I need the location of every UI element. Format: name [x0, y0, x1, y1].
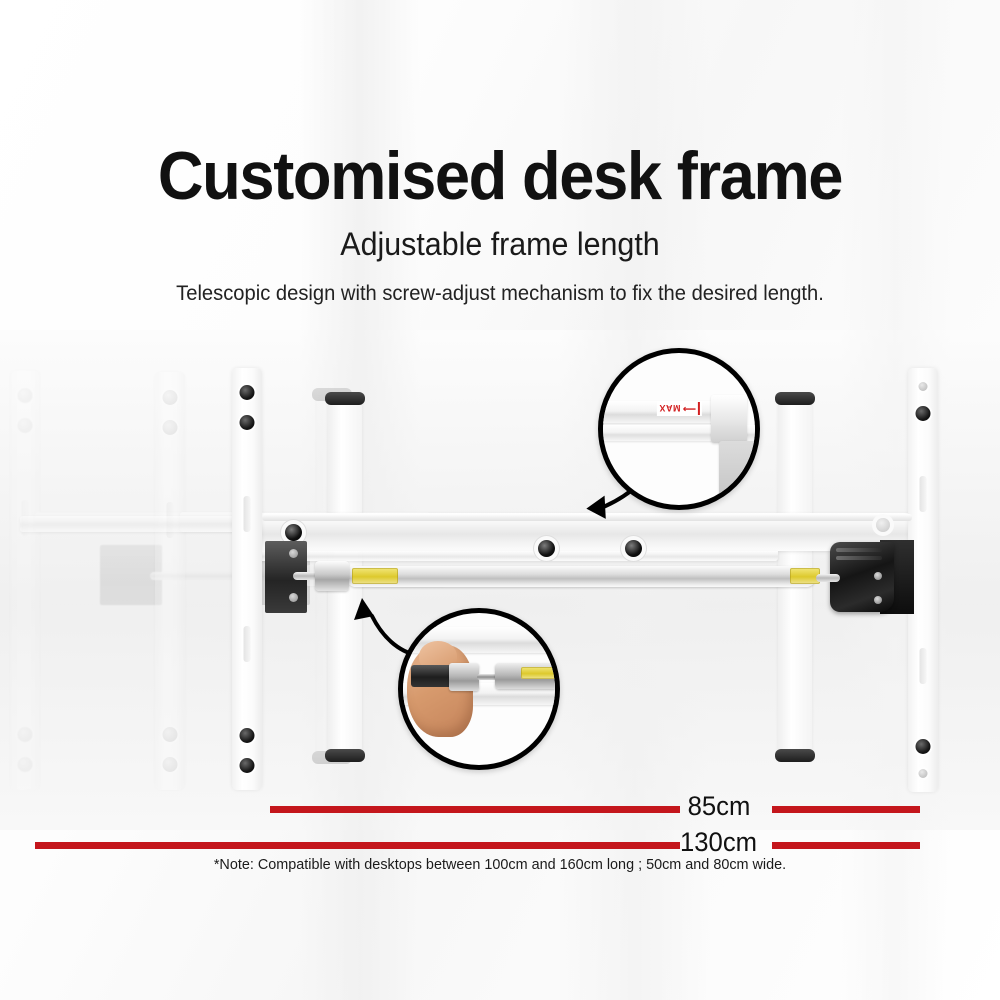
- dimension-line-85-left: [270, 806, 680, 813]
- beam-pivot: [876, 518, 890, 532]
- max-marker: ⟶ MAX: [657, 401, 702, 416]
- adjust-hex-nut: [315, 561, 349, 591]
- dimension-line-130-left: [35, 842, 680, 849]
- beam-bolt: [538, 540, 555, 557]
- left-leg-post: [232, 368, 262, 790]
- dimension-line-130-right: [772, 842, 920, 849]
- dimension-line-85-right: [772, 806, 920, 813]
- page-subtitle: Adjustable frame length: [25, 228, 975, 260]
- telescopic-rod: [346, 566, 816, 587]
- compatibility-note: *Note: Compatible with desktops between …: [20, 857, 980, 872]
- crossbeam-lip: [262, 514, 912, 521]
- foot-end-cap: [325, 392, 365, 405]
- ghost-leg-post: [155, 372, 185, 790]
- dimension-label-85: 85cm: [688, 793, 751, 820]
- screw-adjust-callout: [398, 608, 560, 770]
- callout-warning-label: [521, 667, 557, 679]
- beam-bolt: [285, 524, 302, 541]
- page-tagline: Telescopic design with screw-adjust mech…: [20, 283, 980, 304]
- motor-shaft: [816, 574, 840, 582]
- ghost-leg-post: [10, 370, 40, 790]
- max-extension-callout: ⟶ MAX: [598, 348, 760, 510]
- callout-rail-endcap: [711, 395, 747, 443]
- beam-channel: [258, 551, 778, 561]
- callout-rail-post: [719, 441, 760, 510]
- allen-key-head: [449, 663, 479, 691]
- beam-bolt: [625, 540, 642, 557]
- max-marker-label: MAX: [659, 404, 681, 414]
- foot-end-cap: [325, 749, 365, 762]
- foot-end-cap: [775, 749, 815, 762]
- dimension-label-130: 130cm: [680, 829, 757, 856]
- rod-warning-label: [352, 568, 398, 584]
- page-title: Customised desk frame: [35, 142, 965, 210]
- infographic-canvas: Customised desk frame Adjustable frame l…: [0, 0, 1000, 1000]
- foot-end-cap: [775, 392, 815, 405]
